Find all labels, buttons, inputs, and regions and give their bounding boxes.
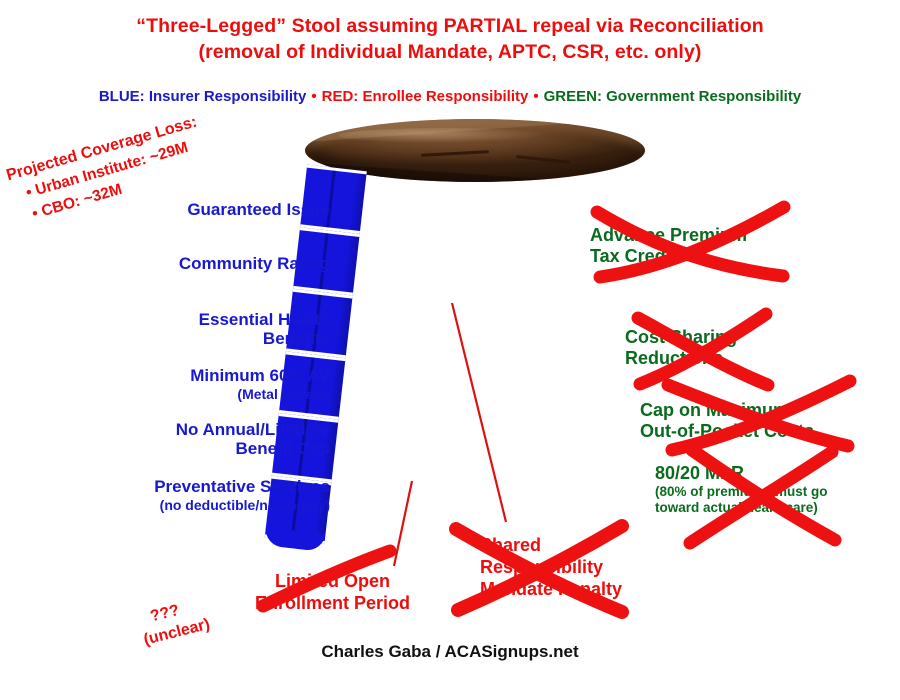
government-label-mlr: 80/20 MLR (80% of premiums must go towar… — [655, 463, 828, 516]
insurer-label-no-benefit-cap: No Annual/Lifetime Benefit Cap — [40, 420, 330, 458]
page-title-line2: (removal of Individual Mandate, APTC, CS… — [0, 40, 900, 65]
government-label-cap-on-max-oop: Cap on Maximum Out-of-Pocket Costs — [640, 400, 814, 442]
insurer-label-community-rating: Community Rating — [60, 254, 330, 273]
government-label-cost-sharing-reductions: Cost Sharing Reductions — [625, 327, 737, 369]
missing-leg-line-right — [452, 303, 506, 522]
legend-separator-2: • — [528, 88, 543, 105]
insurer-label-preventative-services: Preventative Services (no deductible/no … — [24, 477, 330, 515]
enrollee-label-mandate-penalty: Shared Responsibility Mandate Penalty — [480, 534, 690, 600]
strikeout-overlay — [0, 0, 900, 700]
legend-separator-1: • — [306, 88, 321, 105]
color-legend: BLUE: Insurer Responsibility•RED: Enroll… — [0, 88, 900, 105]
insurer-label-essential-health-benefits: Essential Health Benefits — [60, 310, 330, 348]
page-title-line1: “Three-Legged” Stool assuming PARTIAL re… — [0, 14, 900, 39]
annotation-unclear: ??? (unclear) — [148, 594, 212, 648]
legend-green: GREEN: Government Responsibility — [544, 88, 802, 105]
legend-blue: BLUE: Insurer Responsibility — [99, 88, 307, 105]
government-label-advance-premium-tax-credits: Advance Premium Tax Credits — [590, 225, 747, 267]
insurer-label-minimum-av: Minimum 60% AV (Metal Levels) — [60, 366, 330, 404]
credit-line: Charles Gaba / ACASignups.net — [0, 642, 900, 662]
enrollee-label-open-enrollment: Limited Open Enrollment Period — [225, 570, 440, 614]
infographic-canvas: “Three-Legged” Stool assuming PARTIAL re… — [0, 0, 900, 700]
legend-red: RED: Enrollee Responsibility — [322, 88, 529, 105]
missing-leg-line-left — [394, 481, 412, 566]
seat-highlight — [339, 128, 550, 143]
